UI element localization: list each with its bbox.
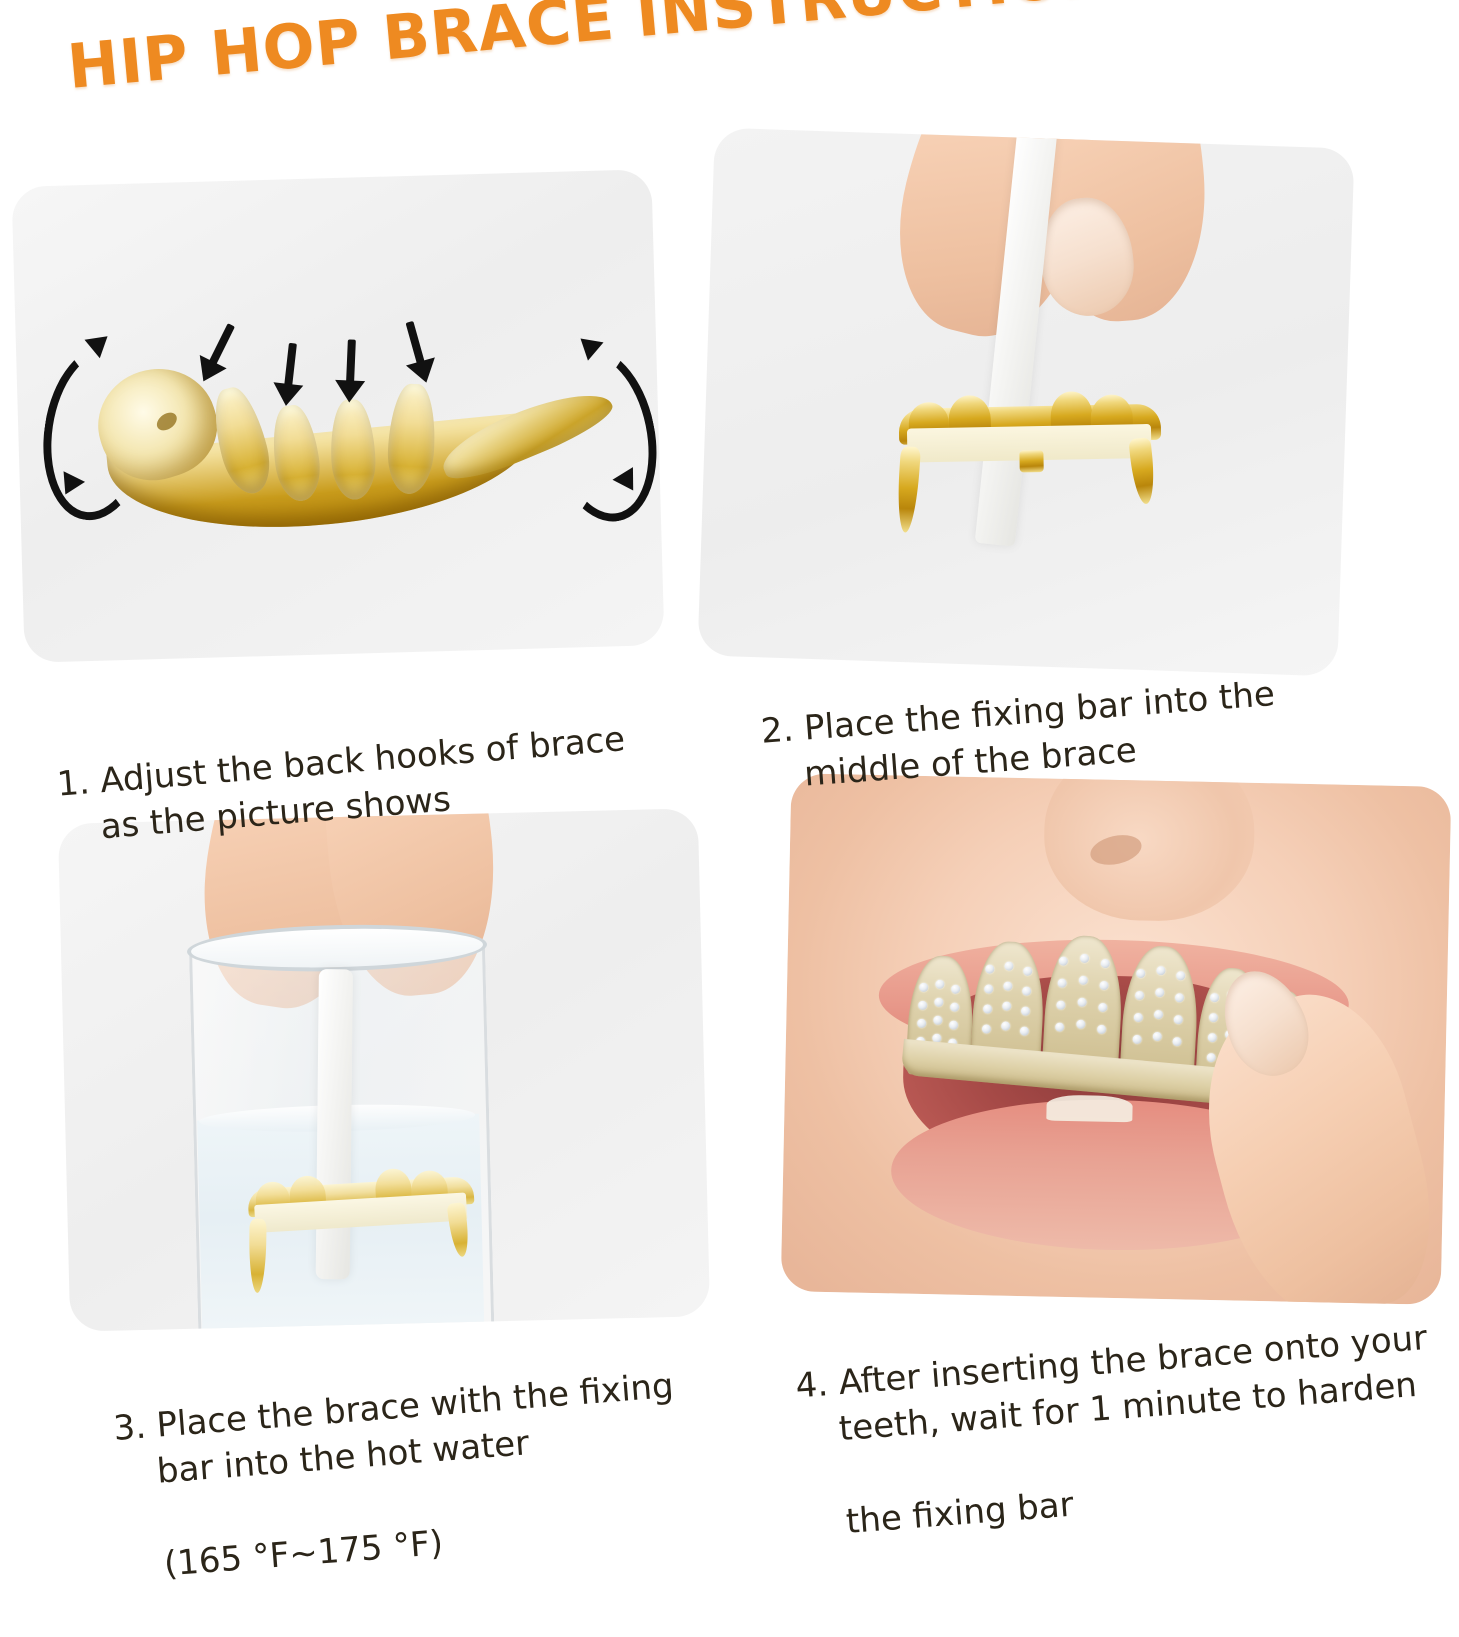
step-1-image <box>11 169 664 663</box>
step-3-caption: 3. Place the brace with the fixing bar i… <box>108 1313 747 1637</box>
grillz-fang-left <box>249 1219 267 1293</box>
down-arrow-1 <box>208 323 235 366</box>
grillz-submerged <box>241 1166 488 1300</box>
down-arrow-2 <box>284 343 297 388</box>
down-arrow-3 <box>346 339 356 383</box>
step-4-image <box>781 773 1452 1305</box>
grillz-center-notch <box>1019 450 1043 472</box>
down-arrow-4 <box>406 321 426 366</box>
step-4-caption: 4. After inserting the brace onto your t… <box>790 1267 1459 1594</box>
grillz-fang-right <box>447 1202 472 1258</box>
grillz-side-view-illustration <box>76 320 622 565</box>
grillz-fang-left <box>895 446 921 533</box>
step-2-image <box>697 128 1354 677</box>
grillz-fang-right <box>1128 437 1157 505</box>
page-title: HIP HOP BRACE INSTRUCTIONS <box>65 0 1270 146</box>
step-3-caption-line-3: (165 °F~175 °F) <box>122 1497 744 1591</box>
page-title-text: HIP HOP BRACE INSTRUCTIONS <box>65 0 1266 100</box>
grillz-front-view <box>890 398 1173 543</box>
curved-double-arrow-right <box>532 338 665 532</box>
